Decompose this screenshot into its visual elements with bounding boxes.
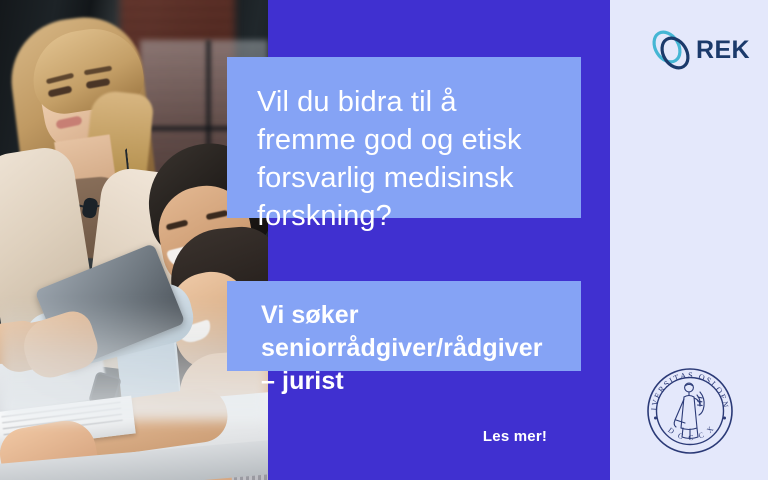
role-text: Vi søker seniorrådgiver/rådgiver – juris… — [261, 299, 551, 398]
headline-box: Vil du bidra til å fremme god og etisk f… — [227, 57, 581, 218]
role-box: Vi søker seniorrådgiver/rådgiver – juris… — [227, 281, 581, 371]
uio-seal[interactable]: UNIVERSITAS OSLOENSIS M D C C C X I — [645, 366, 735, 456]
read-more-link[interactable]: Les mer! — [440, 428, 590, 445]
interlocking-rings-icon — [648, 27, 694, 73]
job-ad-banner: Vil du bidra til å fremme god og etisk f… — [0, 0, 768, 480]
rek-logo[interactable]: REK — [648, 26, 744, 74]
rek-wordmark: REK — [696, 38, 750, 63]
headline-text: Vil du bidra til å fremme god og etisk f… — [257, 83, 551, 235]
apollo-lyre-figure — [674, 383, 704, 438]
